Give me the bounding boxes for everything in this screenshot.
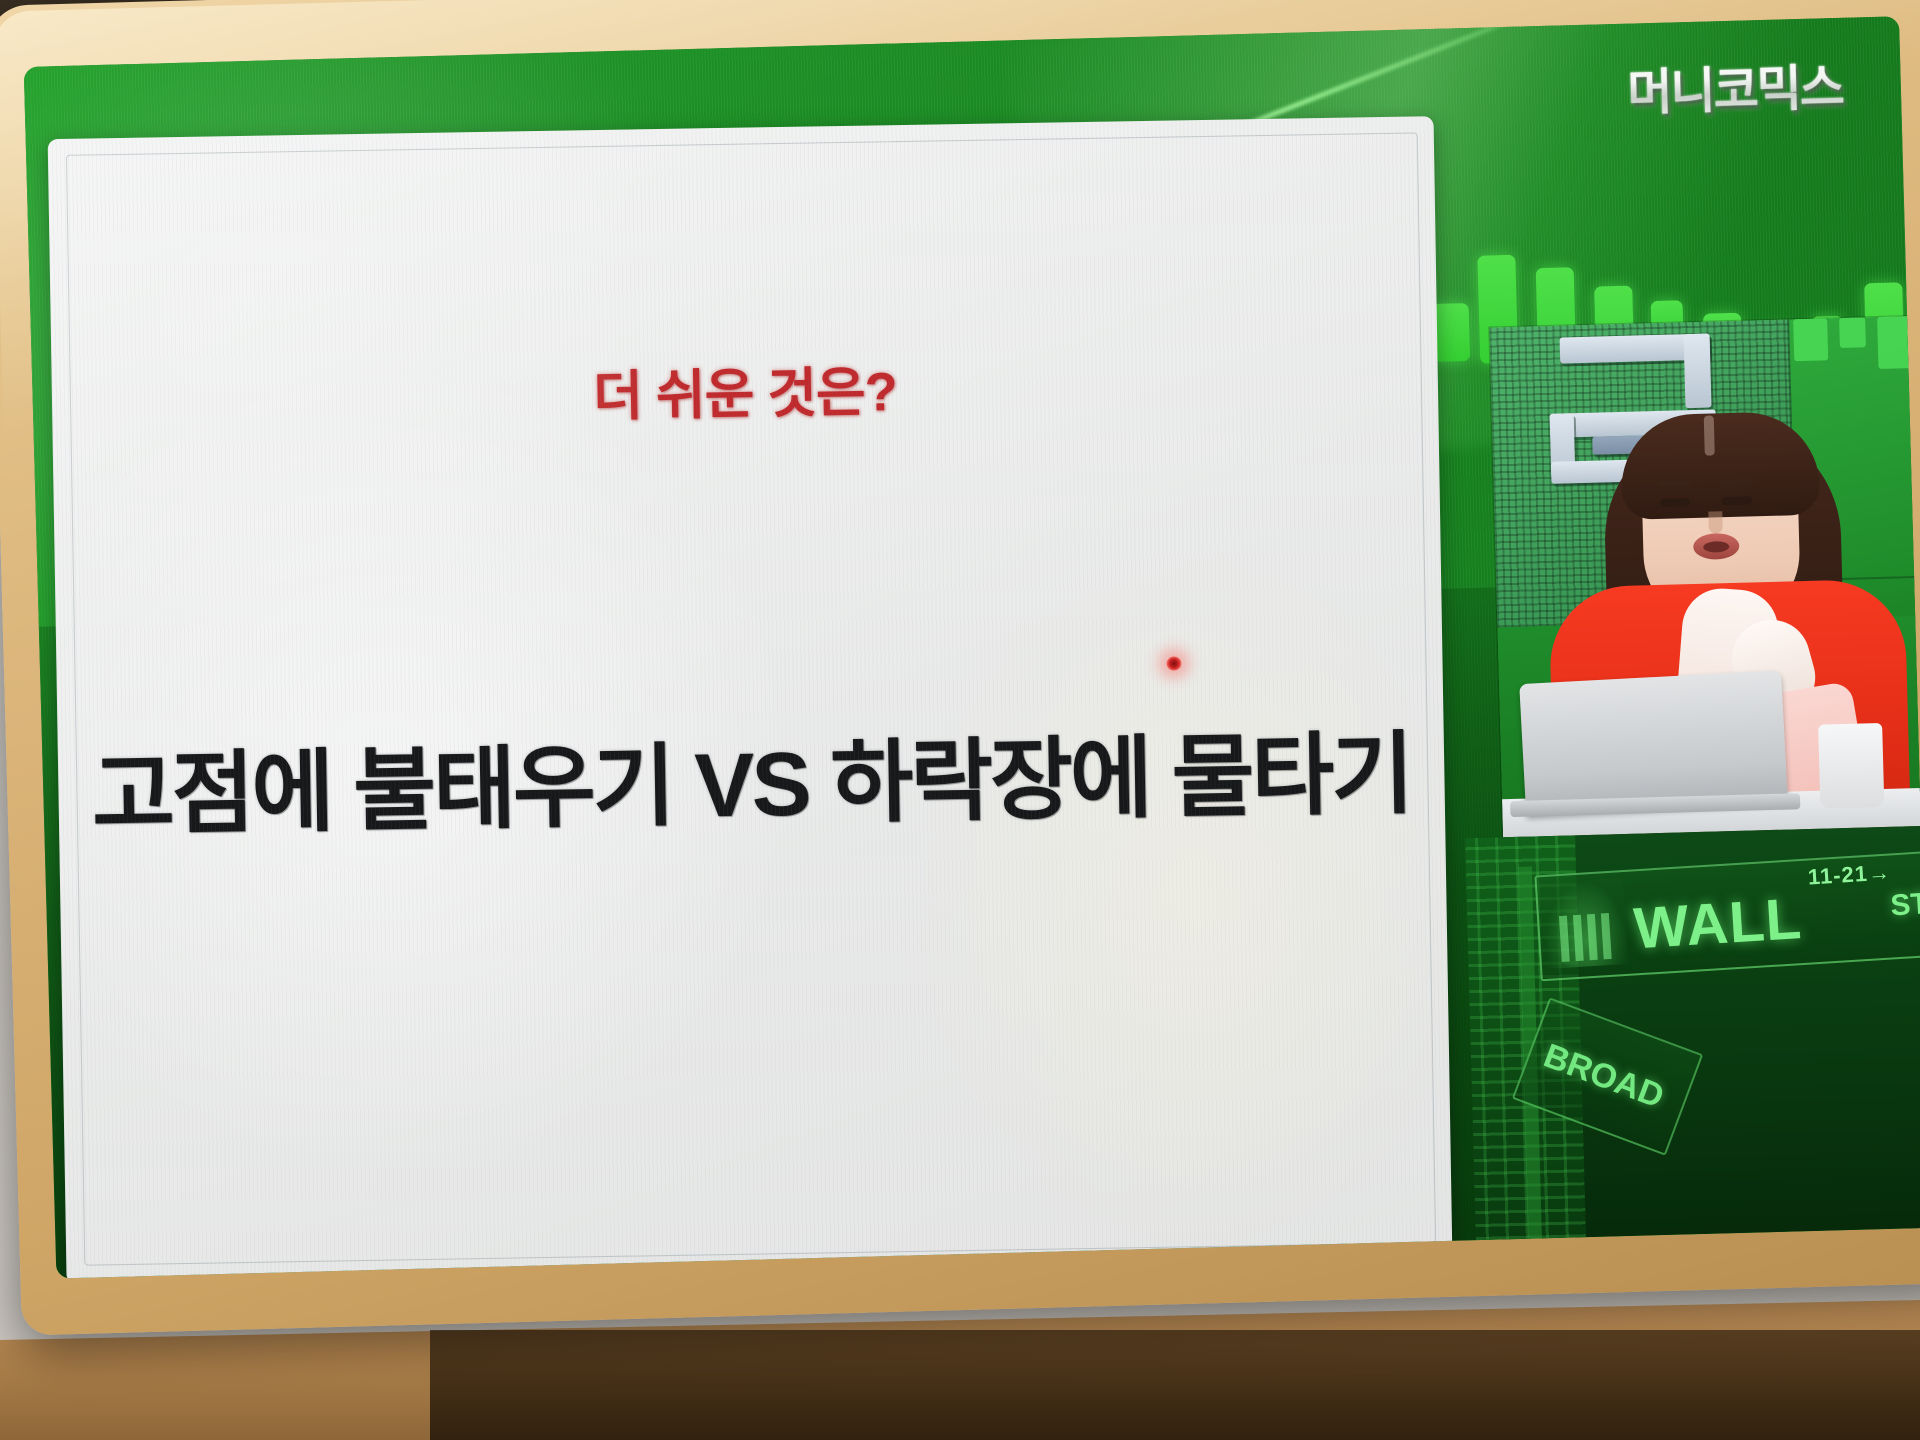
nyse-building-icon xyxy=(1543,878,1628,969)
presenter-eye-right xyxy=(1722,496,1752,505)
street-suffix-label: ST xyxy=(1890,887,1920,923)
presenter-figure xyxy=(1489,316,1920,837)
monitor: 미장은 지금 머니코믹스 더 쉬운 것은? 고점에 불태우기 VS 하락장에 물… xyxy=(0,0,1920,1336)
desk-shadow xyxy=(430,1330,1920,1440)
presenter-webcam[interactable] xyxy=(1489,316,1920,837)
broadcast-right-panel: 11-21→ WALL ST BROAD xyxy=(1443,16,1920,1240)
presenter-nose xyxy=(1708,511,1723,533)
presenter-eye-left xyxy=(1660,498,1690,507)
wall-street-sign: 11-21→ WALL ST xyxy=(1534,851,1920,982)
monitor-screen: 미장은 지금 머니코믹스 더 쉬운 것은? 고점에 불태우기 VS 하락장에 물… xyxy=(24,16,1920,1278)
stock-graphic-area xyxy=(1443,16,1907,328)
presenter-hair-part xyxy=(1704,415,1715,455)
cup xyxy=(1818,723,1884,809)
presenter-eyebrow-left xyxy=(1657,480,1691,487)
presenter-hair-top xyxy=(1620,411,1821,520)
address-range-label: 11-21→ xyxy=(1807,859,1892,890)
wall-street-imagery: 11-21→ WALL ST BROAD xyxy=(1465,826,1920,1240)
presenter-eyebrow-right xyxy=(1719,478,1753,485)
broad-street-label: BROAD xyxy=(1538,1037,1668,1117)
wall-street-label: WALL xyxy=(1632,885,1804,962)
